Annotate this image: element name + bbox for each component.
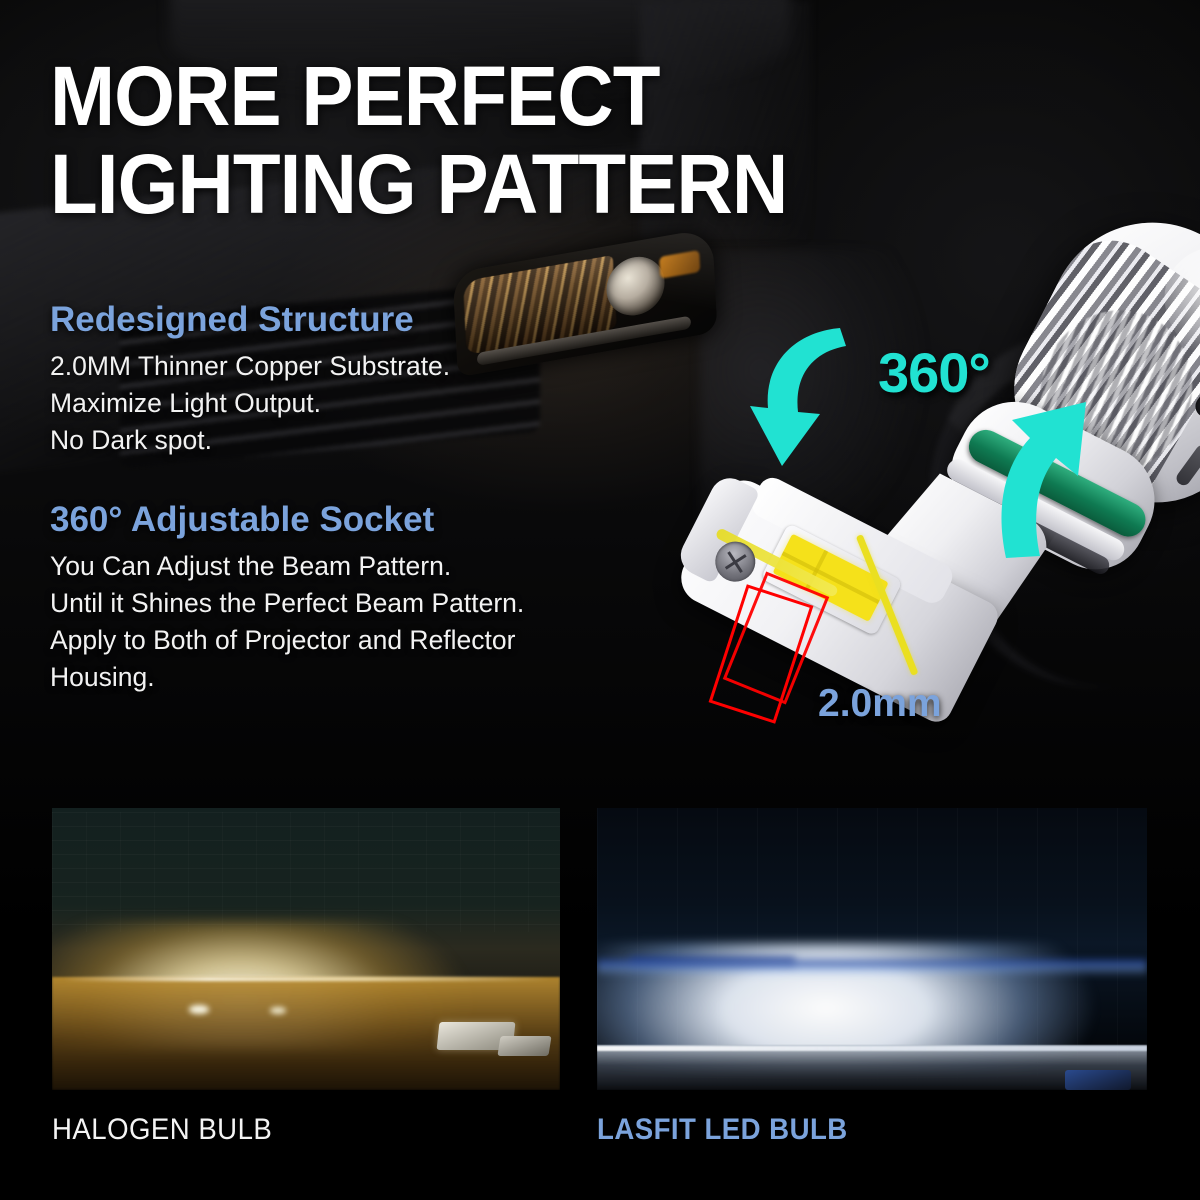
feature-line: You Can Adjust the Beam Pattern. xyxy=(50,548,524,585)
caption-halogen: HALOGEN BULB xyxy=(52,1113,272,1147)
feature-line: Apply to Both of Projector and Reflector xyxy=(50,622,524,659)
feature-line: 2.0MM Thinner Copper Substrate. xyxy=(50,348,450,385)
feature-heading: Redesigned Structure xyxy=(50,298,450,342)
page-title: MORE PERFECT LIGHTING PATTERN xyxy=(50,52,880,228)
led-cutoff-line xyxy=(597,960,1147,976)
caption-lasfit-led: LASFIT LED BULB xyxy=(597,1113,848,1147)
thickness-label: 2.0mm xyxy=(818,682,942,726)
rotation-arrow-left-icon xyxy=(742,322,852,472)
led-ground-edge xyxy=(597,1046,1147,1051)
heatsink-vent-slot-small xyxy=(1174,442,1200,487)
beam-comparison-section xyxy=(0,808,1200,1092)
rotation-degree-label: 360° xyxy=(878,340,990,405)
halogen-wall-lines xyxy=(52,812,560,932)
feature-line: Maximize Light Output. xyxy=(50,385,450,422)
headline-line-1: MORE PERFECT xyxy=(50,52,822,140)
feature-body: 2.0MM Thinner Copper Substrate. Maximize… xyxy=(50,348,450,459)
halogen-cutoff-line xyxy=(62,977,550,981)
led-ground-object xyxy=(1065,1070,1131,1090)
headline-line-2: LIGHTING PATTERN xyxy=(50,140,822,228)
feature-body: You Can Adjust the Beam Pattern. Until i… xyxy=(50,548,524,696)
led-beam-photo xyxy=(597,808,1147,1090)
feature-block-adjustable-socket: 360° Adjustable Socket You Can Adjust th… xyxy=(50,498,524,696)
rotation-arrow-right-icon xyxy=(990,372,1110,562)
feature-heading: 360° Adjustable Socket xyxy=(50,498,524,542)
feature-line: No Dark spot. xyxy=(50,422,450,459)
feature-block-redesigned-structure: Redesigned Structure 2.0MM Thinner Coppe… xyxy=(50,298,450,459)
feature-line: Until it Shines the Perfect Beam Pattern… xyxy=(50,585,524,622)
halogen-hotspot-secondary xyxy=(270,1007,285,1014)
halogen-hotspot xyxy=(189,1005,209,1013)
halogen-beam-photo xyxy=(52,808,560,1090)
product-feature-image: MORE PERFECT LIGHTING PATTERN Redesigned… xyxy=(0,0,1200,1200)
halogen-ground-object-secondary xyxy=(497,1036,551,1056)
feature-line: Housing. xyxy=(50,659,524,696)
